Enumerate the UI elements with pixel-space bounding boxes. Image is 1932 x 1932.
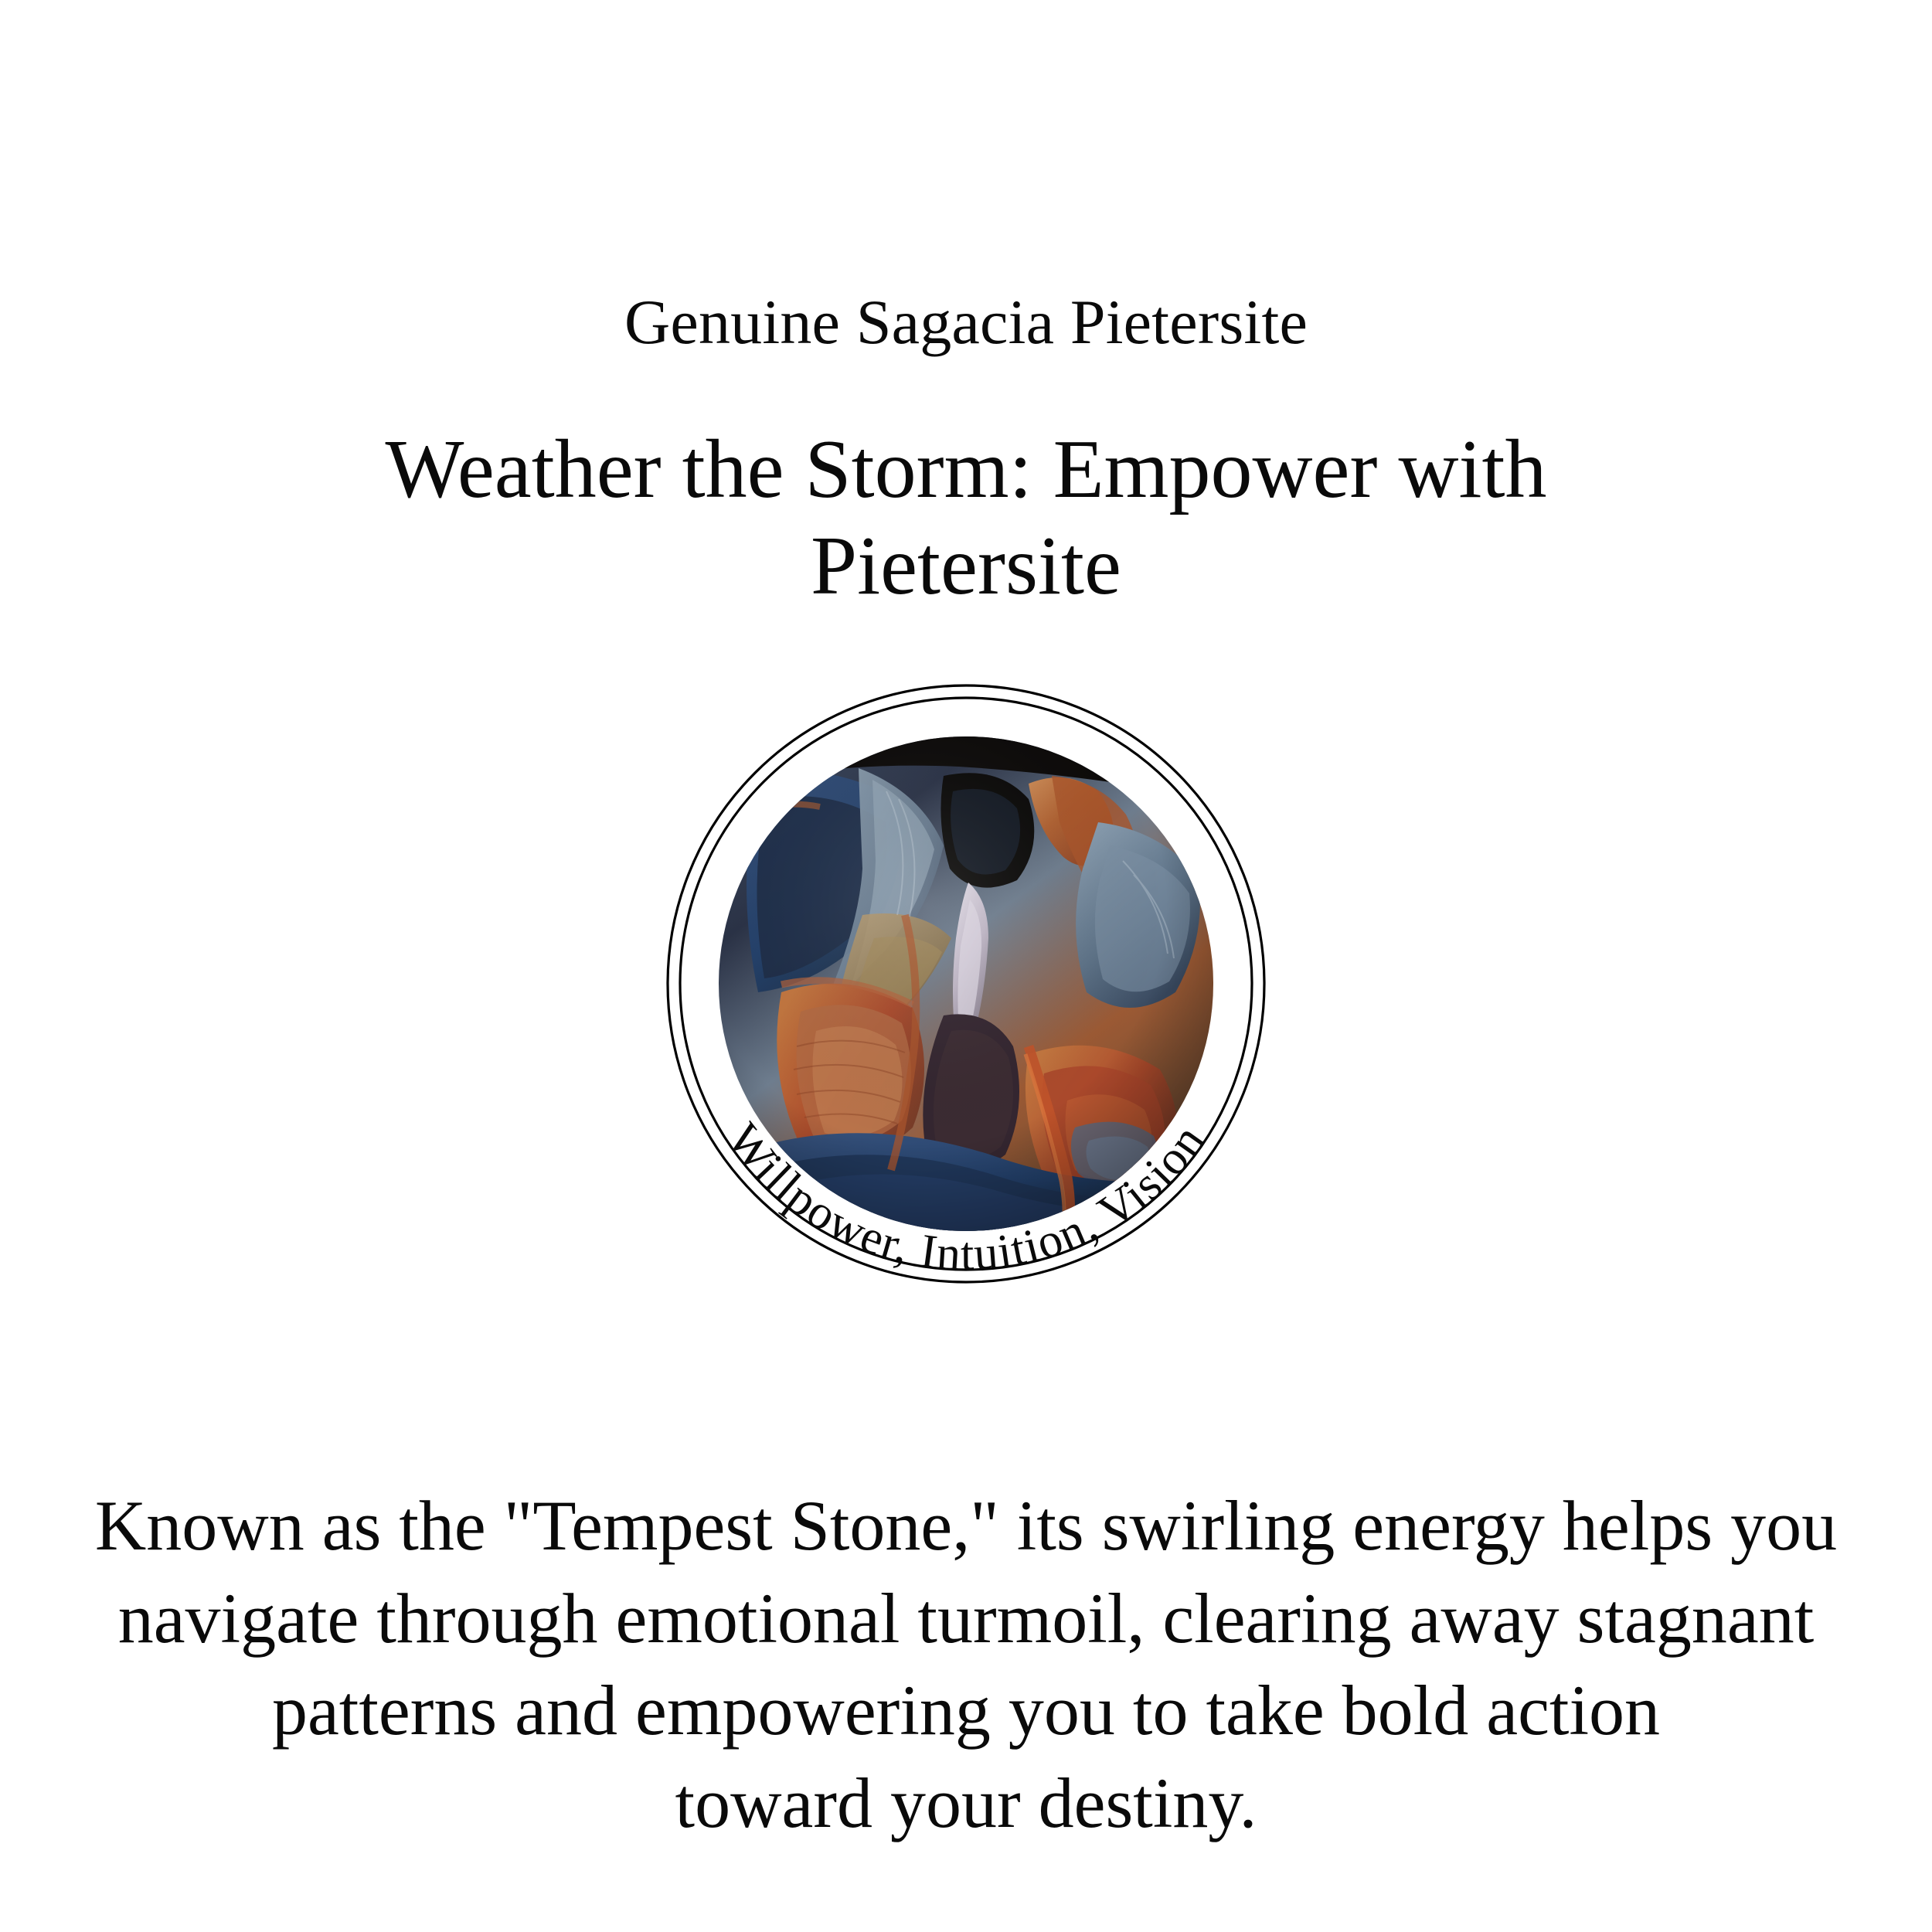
description-line-1: Known as the "Tempest Stone," its swirli… xyxy=(43,1480,1889,1573)
page-title: Weather the Storm: Empower with Pietersi… xyxy=(255,421,1677,615)
stone-emblem: Willpower, Intuition, Vision xyxy=(665,683,1267,1284)
description-line-3: patterns and empowering you to take bold… xyxy=(43,1665,1889,1757)
brand-eyebrow-text: Genuine Sagacia Pietersite xyxy=(0,286,1932,359)
description-line-2: navigate through emotional turmoil, clea… xyxy=(43,1573,1889,1665)
description-line-4: toward your destiny. xyxy=(43,1757,1889,1850)
page-title-line-1: Weather the Storm: Empower with xyxy=(386,423,1547,515)
product-info-card: Genuine Sagacia Pietersite Weather the S… xyxy=(0,0,1932,1932)
page-title-line-2: Pietersite xyxy=(811,520,1121,612)
description-paragraph: Known as the "Tempest Stone," its swirli… xyxy=(43,1480,1889,1849)
